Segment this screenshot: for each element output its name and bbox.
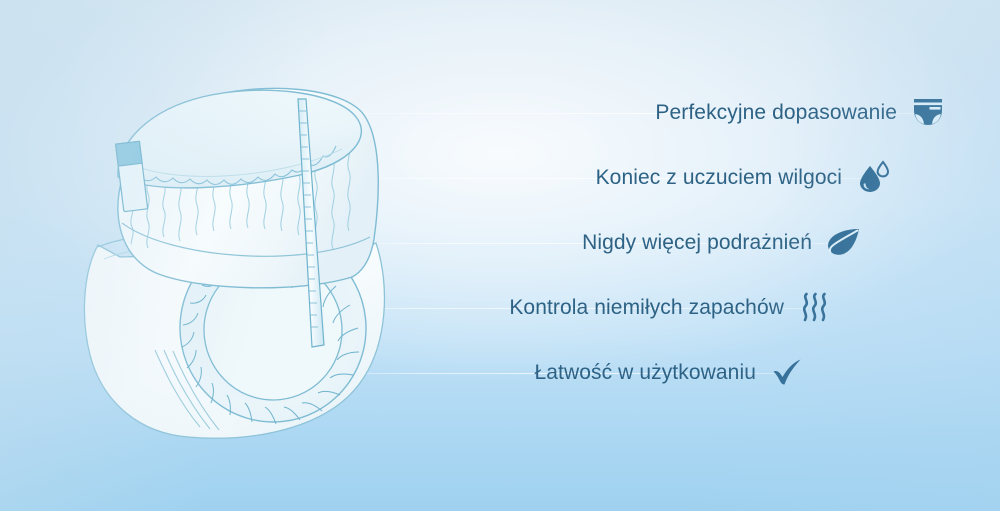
feature-label: Nigdy więcej podrażnień: [582, 232, 812, 253]
feature-odor-control: Kontrola niemiłych zapachów: [509, 290, 832, 324]
feature-label: Łatwość w użytkowaniu: [534, 362, 756, 383]
feature-list: Perfekcyjne dopasowanie Koniec z uczucie…: [0, 0, 1000, 511]
feature-easy-to-use: Łatwość w użytkowaniu: [534, 355, 804, 389]
feature-no-wetness: Koniec z uczuciem wilgoci: [596, 160, 890, 194]
feature-perfect-fit: Perfekcyjne dopasowanie: [655, 95, 945, 129]
leaf-icon: [826, 225, 860, 259]
water-drop-icon: [856, 160, 890, 194]
feature-label: Kontrola niemiłych zapachów: [509, 297, 784, 318]
promo-banner: Perfekcyjne dopasowanie Koniec z uczucie…: [0, 0, 1000, 511]
feature-no-irritation: Nigdy więcej podrażnień: [582, 225, 860, 259]
diaper-icon: [911, 95, 945, 129]
checkmark-icon: [770, 355, 804, 389]
feature-label: Koniec z uczuciem wilgoci: [596, 167, 842, 188]
feature-label: Perfekcyjne dopasowanie: [655, 102, 897, 123]
odor-waves-icon: [798, 290, 832, 324]
